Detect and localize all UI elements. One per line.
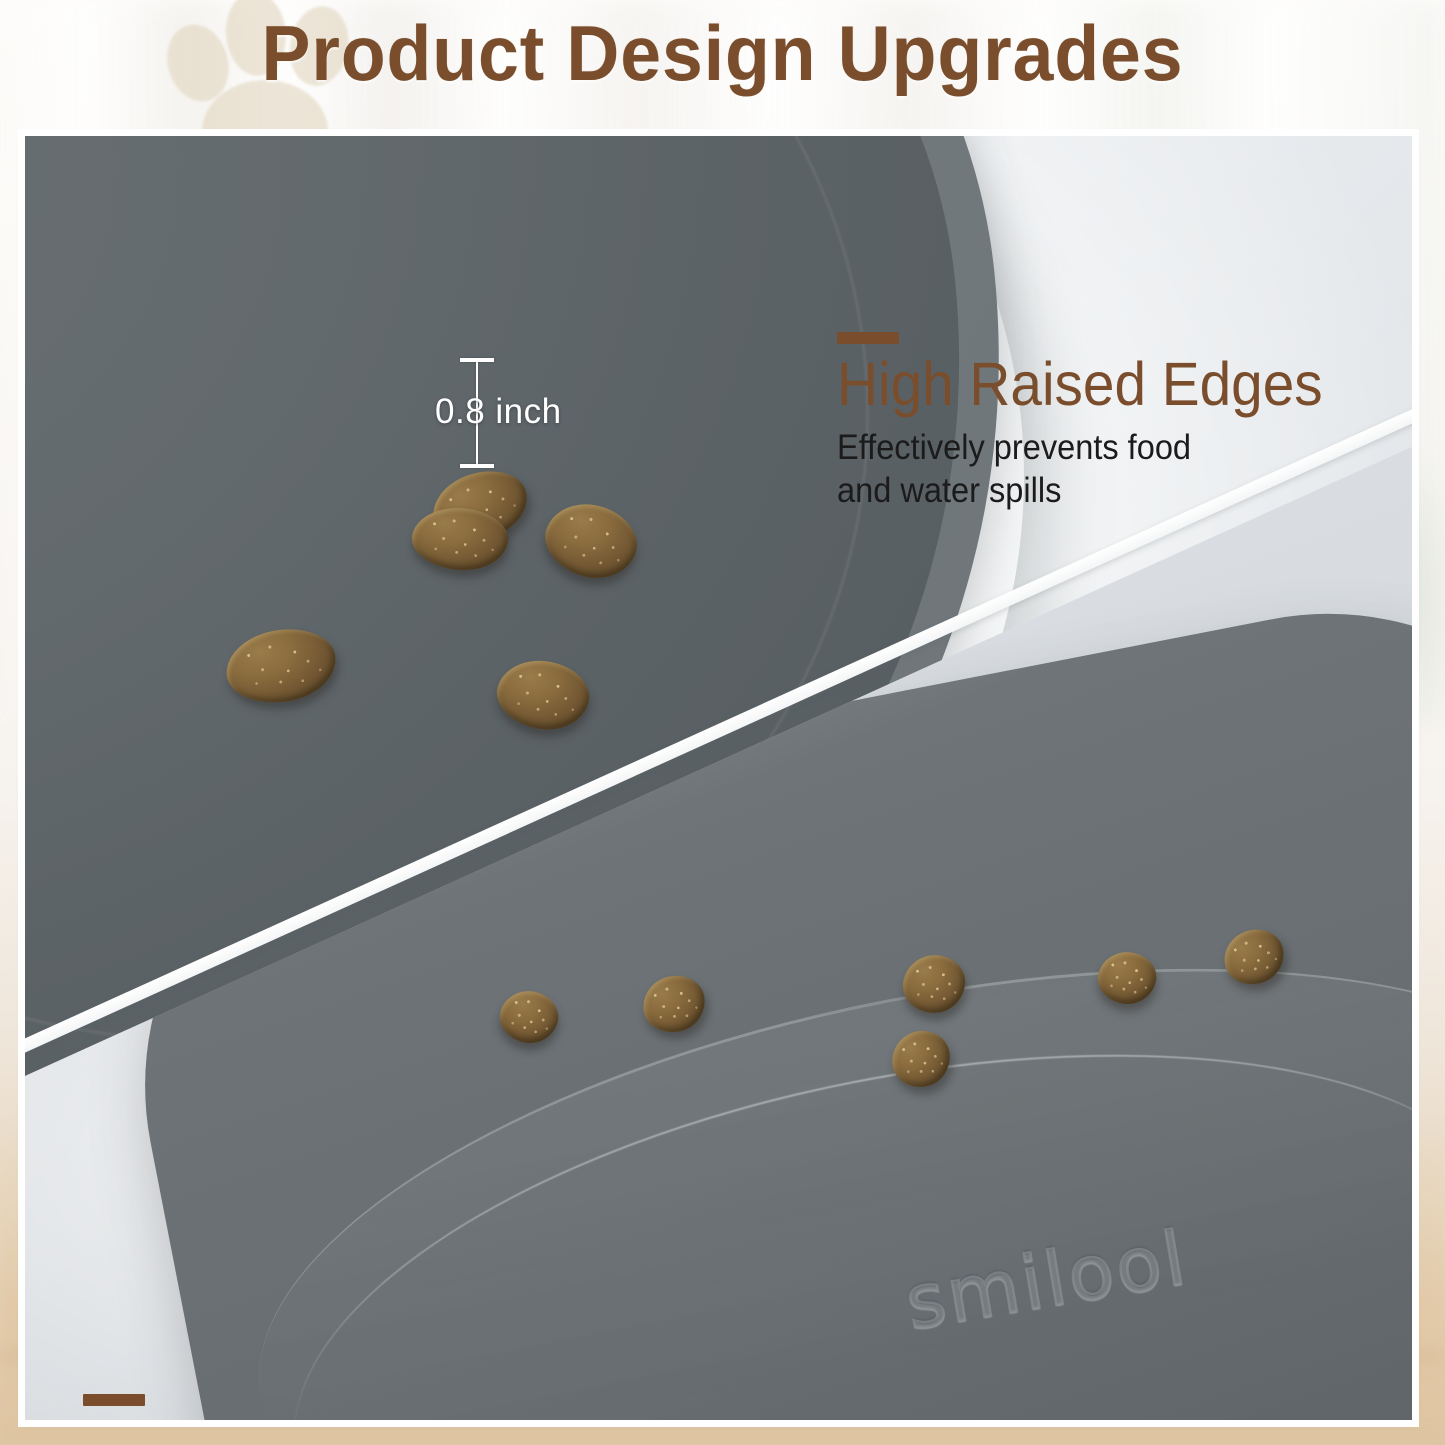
callout-heading-bottom: Keeping the floor clean [83,1415,809,1420]
callout-keeping-floor-clean: Keeping the floor clean Minimizes time s… [83,1394,863,1420]
infographic-page: Product Design Upgrades smilool smilool [0,0,1445,1445]
dimension-cap-bottom [460,464,494,468]
page-title: Product Design Upgrades [43,14,1401,92]
callout-heading-bottom-main: Keeping the floor [83,1412,550,1420]
dimension-cap-top [460,358,494,362]
dimension-label: 0.8 inch [435,392,562,432]
callout-high-raised-edges: High Raised Edges Effectively prevents f… [837,332,1359,513]
callout-heading-top: High Raised Edges [837,353,1323,416]
product-photo: smilool smilool 0.8 inch [25,136,1412,1420]
callout-subtitle-top-line1: Effectively prevents food [837,427,1323,470]
callout-dash-top [837,332,899,344]
callout-subtitle-top-line2: and water spills [837,470,1323,513]
product-photo-frame: smilool smilool 0.8 inch [25,136,1412,1420]
callout-dash-bottom [83,1394,145,1406]
callout-subtitle-top: Effectively prevents food and water spil… [837,427,1323,512]
callout-heading-bottom-accent: clean [550,1412,692,1420]
